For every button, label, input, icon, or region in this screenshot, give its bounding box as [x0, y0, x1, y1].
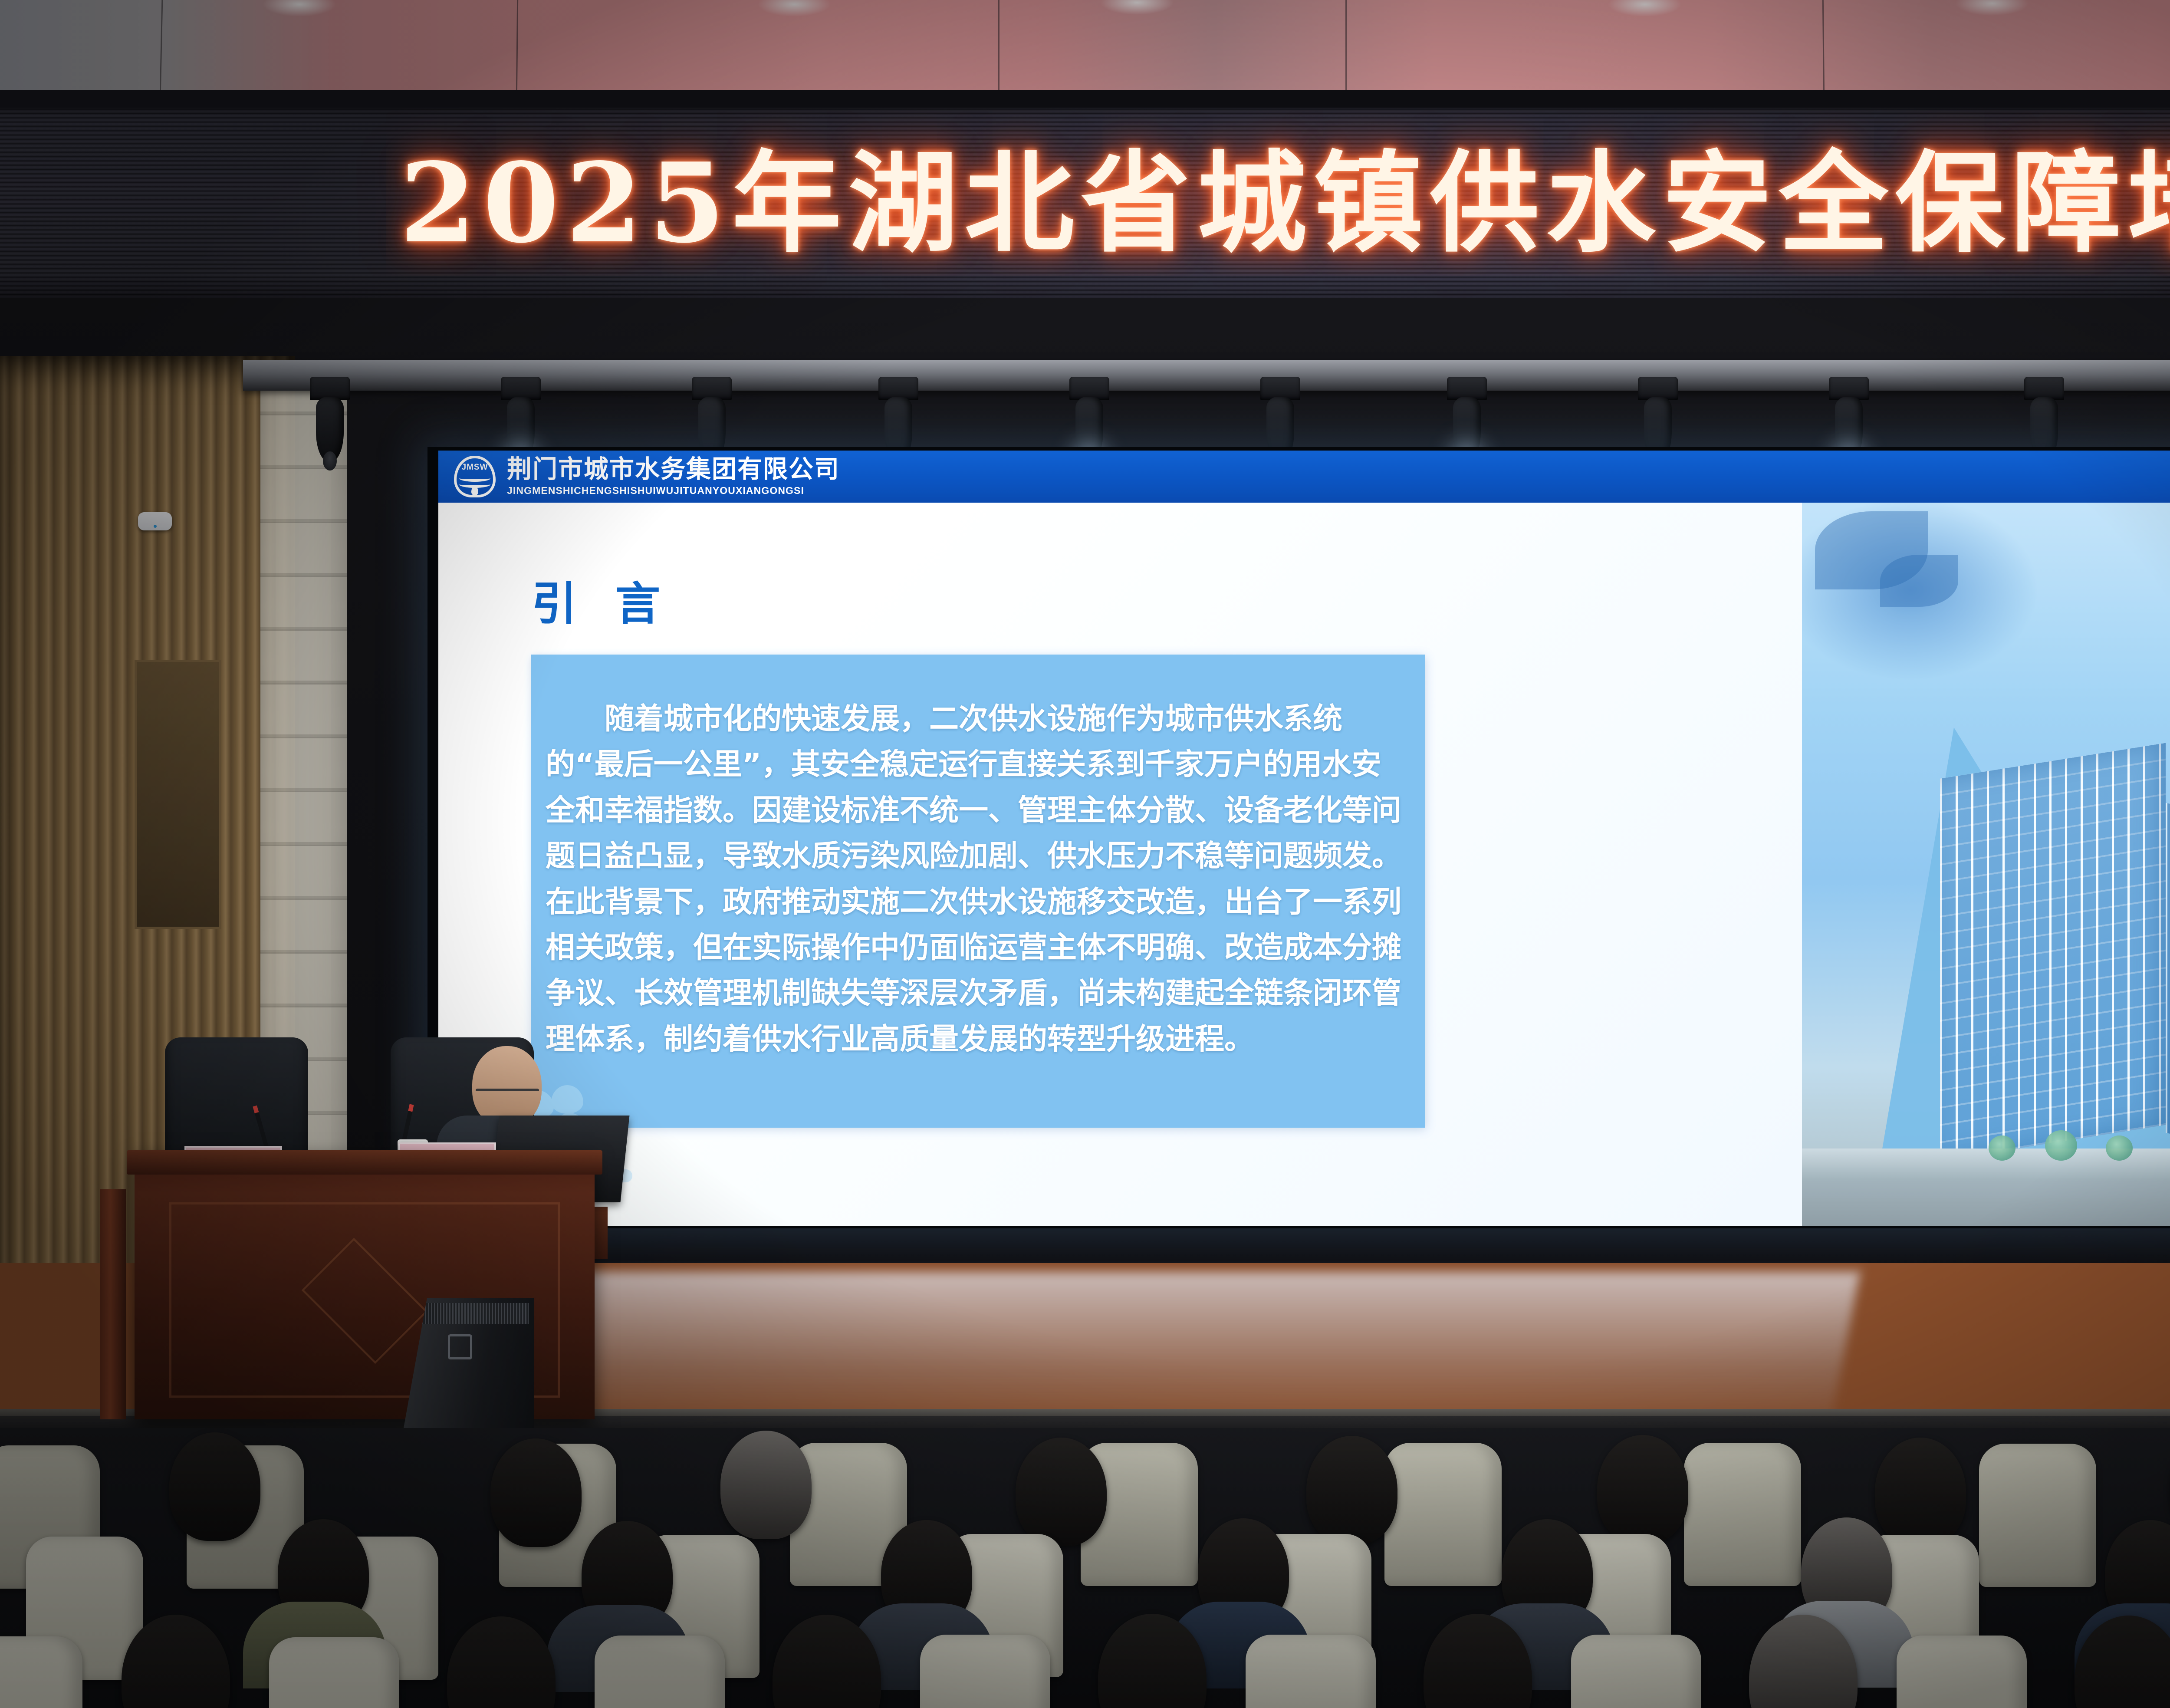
led-banner: 2025年湖北省城镇供水安全保障培训: [0, 90, 2170, 299]
audience-member-head: [1597, 1435, 1688, 1543]
presentation-slide: JMSW 荆门市城市水务集团有限公司 JINGMENSHICHENGSHISHU…: [438, 451, 2170, 1226]
audience-seat: [269, 1637, 399, 1708]
wifi-access-point-icon: [138, 512, 172, 530]
audience-seat: [920, 1635, 1050, 1708]
auditorium-scene: 2025年湖北省城镇供水安全保障培训 JMSW: [0, 0, 2170, 1708]
podium-side-post: [100, 1189, 126, 1419]
audience-member-head: [490, 1438, 582, 1547]
jmsw-logo-text: JMSW: [460, 463, 490, 474]
audience-member-head: [169, 1432, 260, 1541]
headquarters-building-photo: [1802, 503, 2170, 1226]
audience-seat: [1684, 1443, 1801, 1586]
audience-member-head: [720, 1431, 812, 1539]
audience-seat: [1246, 1635, 1376, 1708]
audience-seat: [1384, 1443, 1502, 1586]
audience-seat: [1897, 1636, 2027, 1708]
slide-header-bar: JMSW 荆门市城市水务集团有限公司 JINGMENSHICHENGSHISHU…: [438, 451, 2170, 503]
audience-member-head: [1875, 1438, 1966, 1546]
jmsw-company-logo-icon: JMSW: [454, 456, 496, 497]
slide-body-card: 随着城市化的快速发展，二次供水设施作为城市供水系统的“最后一公里”，其安全稳定运…: [531, 655, 1425, 1128]
led-banner-text: 2025年湖北省城镇供水安全保障培训: [0, 115, 2170, 273]
audience-member-head: [1016, 1438, 1107, 1546]
audience-member-head: [447, 1616, 556, 1708]
stage-light-wash: [483, 1272, 1860, 1432]
audience-seat: [0, 1636, 82, 1708]
audience-seat: [1571, 1635, 1701, 1708]
audience-seat: [1979, 1444, 2096, 1587]
ceiling: [0, 0, 2170, 96]
company-name-pinyin: JINGMENSHICHENGSHISHUIWUJITUANYOUXIANGON…: [507, 485, 840, 497]
audience-area: [0, 1428, 2170, 1708]
audience-seat: [595, 1636, 725, 1708]
led-banner-top-edge: [0, 90, 2170, 108]
slide-title: 引 言: [532, 567, 671, 632]
left-wall-recess: [135, 660, 221, 929]
company-name-cn: 荆门市城市水务集团有限公司: [507, 457, 840, 482]
audience-member-head: [1306, 1436, 1397, 1544]
stage-light-fixture: [304, 377, 356, 481]
slide-body-paragraph: 随着城市化的快速发展，二次供水设施作为城市供水系统的“最后一公里”，其安全稳定运…: [546, 696, 1406, 1062]
